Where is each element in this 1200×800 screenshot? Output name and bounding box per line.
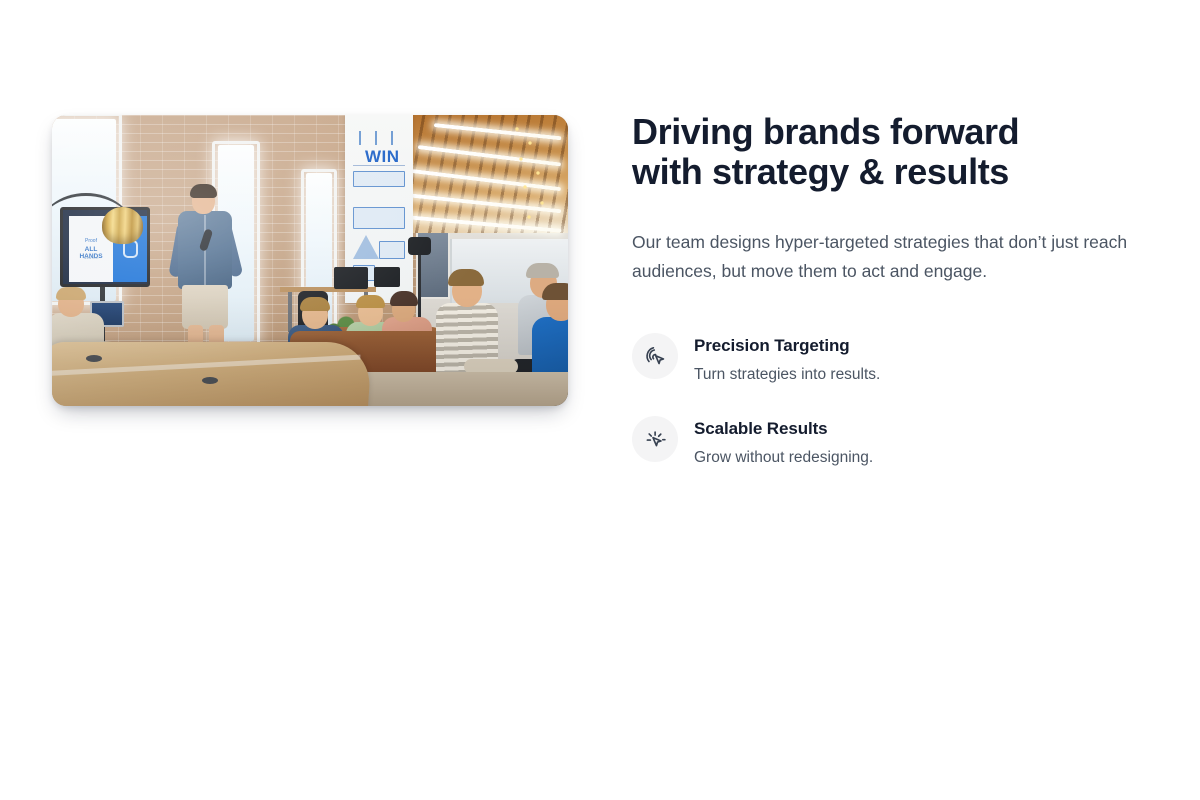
poster-word: WIN	[365, 147, 400, 167]
audience-member-hair	[56, 287, 86, 300]
audience-member-hair	[390, 291, 418, 306]
monitor	[374, 267, 400, 287]
poster-box	[353, 207, 405, 229]
conference-table	[52, 342, 373, 406]
table-device	[86, 355, 102, 362]
hero-subtitle: Our team designs hyper-targeted strategi…	[632, 228, 1148, 286]
table-device	[202, 377, 218, 384]
poster-skyline	[353, 131, 405, 145]
feature-text-block: Precision Targeting Turn strategies into…	[694, 332, 880, 385]
audience-member-hair	[356, 295, 385, 308]
feature-title: Precision Targeting	[694, 335, 880, 357]
audience-member-hair	[300, 297, 330, 311]
audience-member-hair	[526, 263, 559, 278]
poster-box	[379, 241, 405, 259]
feature-description: Grow without redesigning.	[694, 447, 873, 468]
feature-title: Scalable Results	[694, 418, 873, 440]
poster-box	[353, 171, 405, 187]
headline-line-1: Driving brands forward	[632, 112, 1148, 152]
cursor-click-icon	[632, 333, 678, 379]
feature-list: Precision Targeting Turn strategies into…	[632, 332, 1148, 468]
audience-member-hair	[542, 283, 568, 300]
office-presentation-photo: WIN	[52, 115, 568, 406]
feature-item-precision-targeting: Precision Targeting Turn strategies into…	[632, 332, 1148, 385]
audience-member-hair	[448, 269, 484, 286]
hero-section: WIN	[0, 0, 1200, 800]
tv-text-date: 4/28/7mn	[73, 256, 109, 260]
feature-description: Turn strategies into results.	[694, 364, 880, 385]
hero-media-column: WIN	[52, 115, 568, 406]
presenter-shorts	[182, 285, 228, 329]
poster-triangle	[353, 235, 379, 259]
feature-item-scalable-results: Scalable Results Grow without redesignin…	[632, 415, 1148, 468]
desk-leg	[288, 292, 292, 332]
monitor	[334, 267, 368, 289]
presenter-hair	[190, 184, 217, 198]
headline-line-2: with strategy & results	[632, 152, 1148, 192]
brass-pendant-lamp	[102, 207, 143, 244]
feature-text-block: Scalable Results Grow without redesignin…	[694, 415, 873, 468]
poster-rule	[353, 165, 405, 166]
hero-copy-column: Driving brands forward with strategy & r…	[632, 112, 1148, 468]
arrow-growth-icon	[632, 416, 678, 462]
camera-head	[408, 237, 431, 255]
page-title: Driving brands forward with strategy & r…	[632, 112, 1148, 192]
string-lights	[512, 121, 554, 233]
photo-scene: WIN	[52, 115, 568, 406]
